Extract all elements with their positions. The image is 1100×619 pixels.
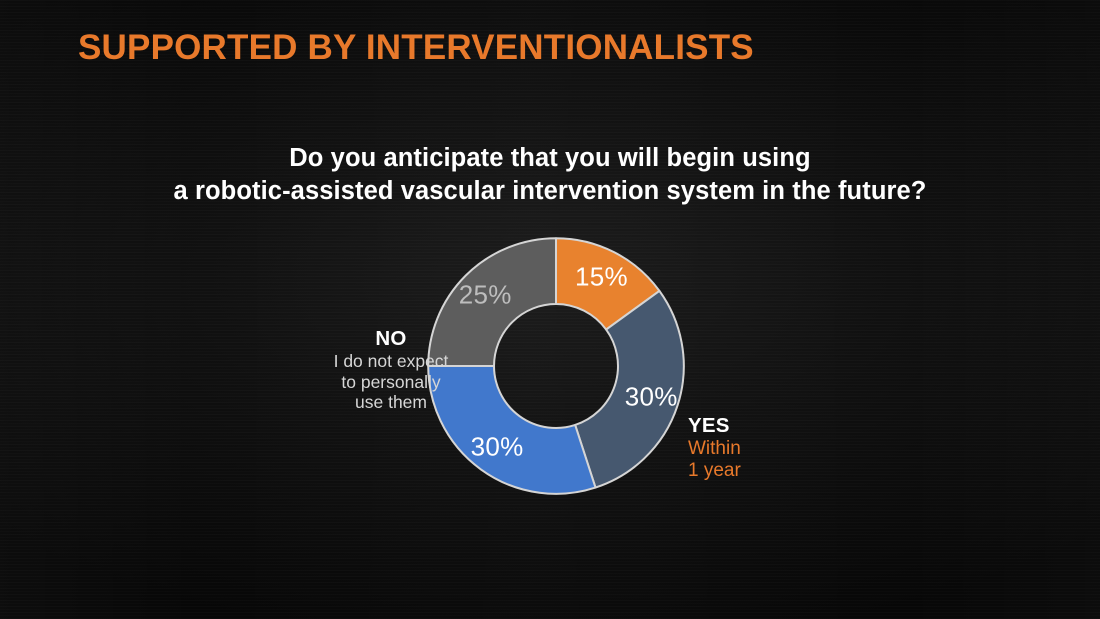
- donut-chart: 15% 30% 30% 25%: [427, 237, 685, 495]
- subtitle-line-2: a robotic-assisted vascular intervention…: [0, 175, 1100, 208]
- page-title: SUPPORTED BY INTERVENTIONALISTS: [78, 28, 1100, 68]
- slice-value-yes-1-year: 15%: [575, 261, 628, 292]
- donut-chart-svg: [427, 237, 685, 495]
- callout-no-line-2: to personally: [331, 372, 451, 393]
- callout-yes-1-year-line-1: Within: [688, 438, 1100, 461]
- slice-value-no: 25%: [459, 280, 512, 311]
- callout-no-line-3: use them: [331, 392, 451, 413]
- callout-no: NO I do not expect to personally use the…: [331, 327, 451, 413]
- donut-slice: [428, 366, 595, 494]
- slice-value-yes-1-3-years: 30%: [625, 381, 678, 412]
- callout-no-line-1: I do not expect: [331, 351, 451, 372]
- callout-yes-1-year: YES Within 1 year: [688, 414, 1100, 483]
- slice-value-yes-3-plus: 30%: [471, 432, 524, 463]
- slide-canvas: SUPPORTED BY INTERVENTIONALISTS Do you a…: [0, 0, 1100, 619]
- donut-slice-group: [428, 238, 684, 494]
- callout-yes-1-year-head: YES: [688, 414, 1100, 438]
- slide-subtitle: Do you anticipate that you will begin us…: [0, 142, 1100, 208]
- callout-yes-1-year-line-2: 1 year: [688, 460, 1100, 483]
- callout-no-head: NO: [331, 327, 451, 351]
- subtitle-line-1: Do you anticipate that you will begin us…: [0, 142, 1100, 175]
